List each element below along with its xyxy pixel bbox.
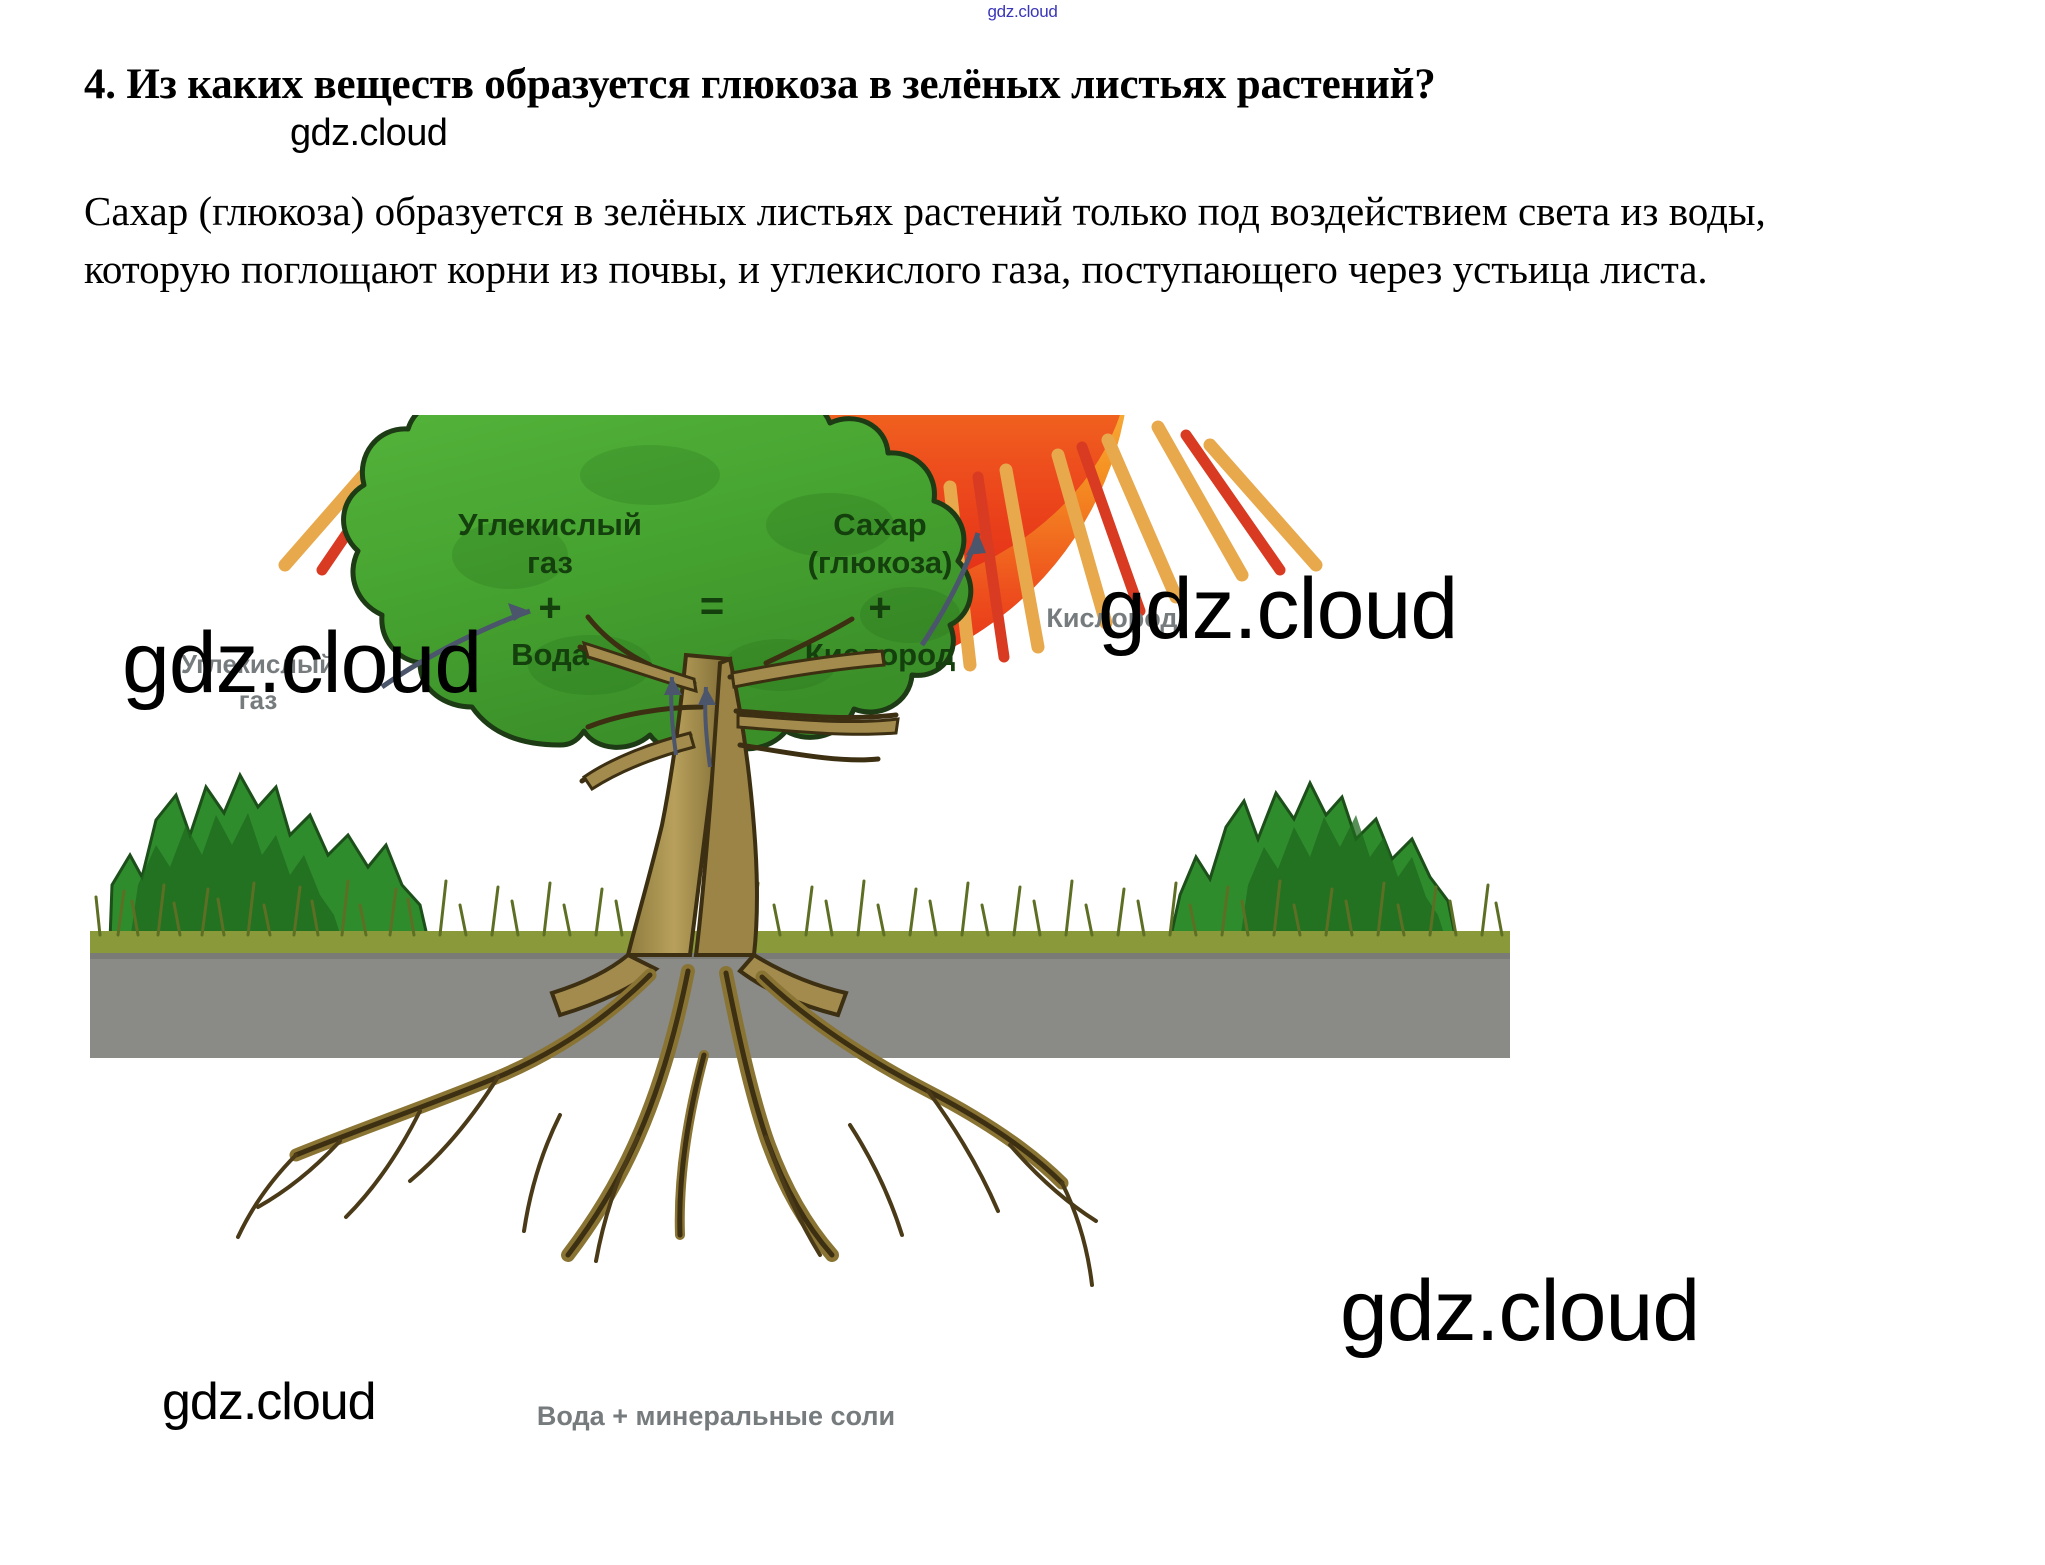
watermark-bottom-left: gdz.cloud bbox=[162, 1372, 376, 1432]
watermark-right-lower: gdz.cloud bbox=[1340, 1262, 1699, 1361]
eq-left-line3: Вода bbox=[511, 637, 590, 672]
watermark-under-title: gdz.cloud bbox=[290, 112, 447, 155]
eq-plus-2: + bbox=[868, 586, 891, 630]
watermark-right-upper: gdz.cloud bbox=[1098, 560, 1457, 659]
eq-right-line2: (глюкоза) bbox=[808, 545, 953, 580]
eq-left-line2: газ bbox=[527, 545, 573, 580]
eq-left-line1: Углекислый bbox=[458, 507, 642, 542]
eq-right-line1: Сахар bbox=[833, 507, 926, 542]
question-heading: 4. Из каких веществ образуется глюкоза в… bbox=[84, 62, 1954, 107]
label-water-minerals-group: Вода + минеральные соли bbox=[537, 1401, 895, 1431]
watermark-left-middle: gdz.cloud bbox=[122, 614, 481, 713]
eq-plus-1: + bbox=[538, 586, 561, 630]
label-water-minerals: Вода + минеральные соли bbox=[537, 1401, 895, 1431]
watermark-top-small: gdz.cloud bbox=[0, 2, 2045, 22]
bush-left-icon bbox=[110, 775, 428, 940]
bush-right-icon bbox=[1170, 783, 1456, 940]
answer-paragraph: Сахар (глюкоза) образуется в зелёных лис… bbox=[84, 182, 1824, 298]
eq-equals: = bbox=[700, 582, 725, 629]
